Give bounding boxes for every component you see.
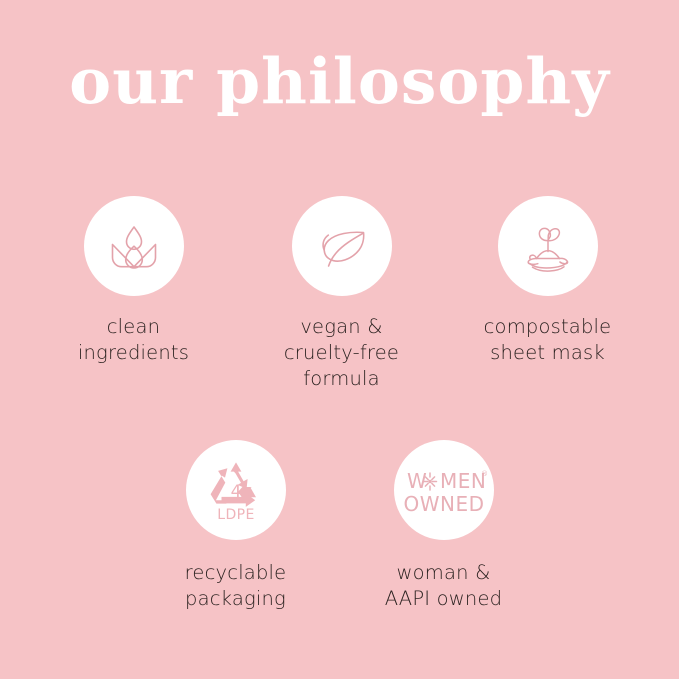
resin-material-label: LDPE <box>217 507 254 523</box>
badge-circle <box>498 196 598 296</box>
badge-circle: W M <box>394 440 494 540</box>
badge-label: vegan & cruelty-free formula <box>284 314 399 392</box>
hand-sprout-icon <box>516 214 580 278</box>
badge-row-1: clean ingredients vegan & cruelty-free f… <box>0 196 679 392</box>
recycling-ldpe-icon: 4 LDPE <box>203 457 269 523</box>
badge-row-2: 4 LDPE recyclable packaging W <box>0 440 679 612</box>
badge-woman-aapi-owned: W M <box>340 440 548 612</box>
badge-clean-ingredients: clean ingredients <box>29 196 239 366</box>
svg-text:MEN: MEN <box>440 469 486 493</box>
leaf-icon <box>310 214 374 278</box>
badge-vegan-cruelty-free: vegan & cruelty-free formula <box>239 196 445 392</box>
badge-compostable-sheet-mask: compostable sheet mask <box>445 196 651 366</box>
registered-trademark-mark: ® <box>481 470 488 478</box>
badge-circle <box>292 196 392 296</box>
badge-label: recyclable packaging <box>185 560 287 612</box>
badge-label: woman & AAPI owned <box>385 560 503 612</box>
svg-text:OWNED: OWNED <box>403 492 484 516</box>
badge-recyclable-packaging: 4 LDPE recyclable packaging <box>132 440 340 612</box>
resin-code-number: 4 <box>230 482 241 502</box>
philosophy-infographic: our philosophy cle <box>0 0 679 679</box>
page-title: our philosophy <box>0 50 679 113</box>
lotus-droplet-icon <box>102 214 166 278</box>
badge-label: clean ingredients <box>78 314 189 366</box>
badge-circle: 4 LDPE <box>186 440 286 540</box>
badge-label: compostable sheet mask <box>484 314 612 366</box>
women-owned-badge-icon: W M <box>400 462 488 518</box>
badge-circle <box>84 196 184 296</box>
